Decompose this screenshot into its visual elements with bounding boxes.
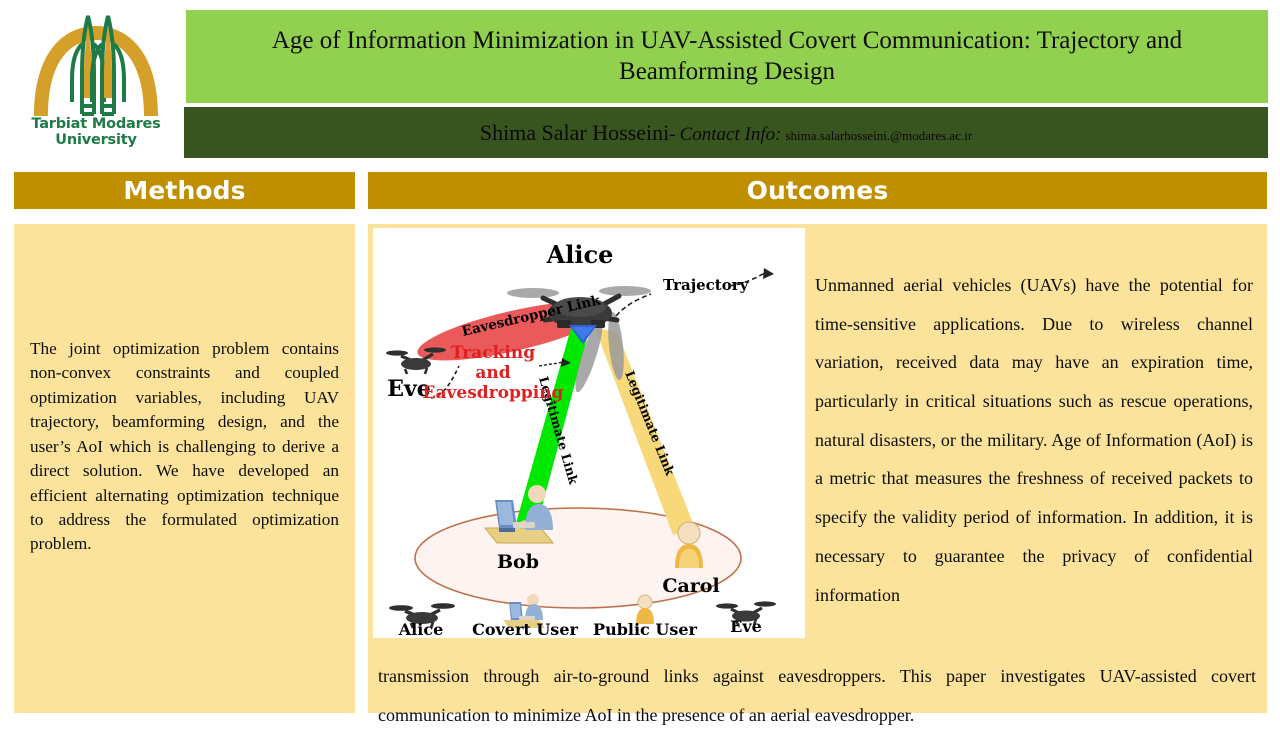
- page-title: Age of Information Minimization in UAV-A…: [214, 26, 1240, 87]
- eve-drone-icon: [386, 347, 446, 374]
- trajectory-arrow-dashed: [616, 294, 651, 316]
- section-header-outcomes: Outcomes: [368, 172, 1267, 209]
- figure-label-tracking-2: and: [475, 363, 510, 383]
- section-label-outcomes: Outcomes: [747, 176, 889, 205]
- figure-label-tracking-3: Eavesdropping: [423, 383, 564, 403]
- methods-panel: The joint optimization problem contains …: [14, 224, 355, 713]
- figure-label-trajectory: Trajectory: [663, 276, 750, 294]
- legend-label-public-user: Public User: [593, 620, 697, 638]
- figure-label-tracking-1: Tracking: [451, 343, 535, 363]
- legend-label-eve: Eve: [730, 617, 762, 636]
- logo-university-name: Tarbiat Modares University: [8, 116, 184, 148]
- figure-label-bob: Bob: [497, 551, 539, 573]
- methods-body-text: The joint optimization problem contains …: [30, 337, 339, 557]
- legend-label-alice: Alice: [398, 620, 444, 638]
- legend-label-covert-user: Covert User: [472, 620, 578, 638]
- outcomes-body-text-bottom: transmission through air-to-ground links…: [378, 657, 1256, 734]
- author-contact-bar: Shima Salar Hosseini- Contact Info: shim…: [184, 107, 1268, 158]
- outcomes-panel: Alice Eve Trajectory Eavesdr: [368, 224, 1267, 713]
- poster-root: Tarbiat Modares University Age of Inform…: [0, 0, 1280, 720]
- figure-label-alice: Alice: [546, 240, 614, 269]
- contact-email: shima.salarhosseini.@modares.ac.ir: [785, 128, 972, 143]
- logo-name-line2: University: [55, 132, 137, 148]
- system-model-figure: Alice Eve Trajectory Eavesdr: [373, 228, 805, 638]
- green-beam-arrow: [539, 362, 563, 366]
- author-name: Shima Salar Hosseini: [480, 120, 669, 145]
- section-header-methods: Methods: [14, 172, 355, 209]
- poster-title-banner: Age of Information Minimization in UAV-A…: [186, 10, 1268, 103]
- author-dash: -: [669, 124, 675, 145]
- section-label-methods: Methods: [123, 176, 245, 205]
- outcomes-body-text-right: Unmanned aerial vehicles (UAVs) have the…: [815, 266, 1253, 614]
- contact-info-label: Contact Info:: [680, 124, 782, 145]
- logo-name-line1: Tarbiat Modares: [31, 116, 160, 132]
- legitimate-link-beam-yellow: [595, 328, 695, 535]
- university-logo: Tarbiat Modares University: [8, 4, 184, 166]
- wheat-arch-logo-icon: [26, 10, 166, 120]
- figure-label-carol: Carol: [662, 575, 719, 597]
